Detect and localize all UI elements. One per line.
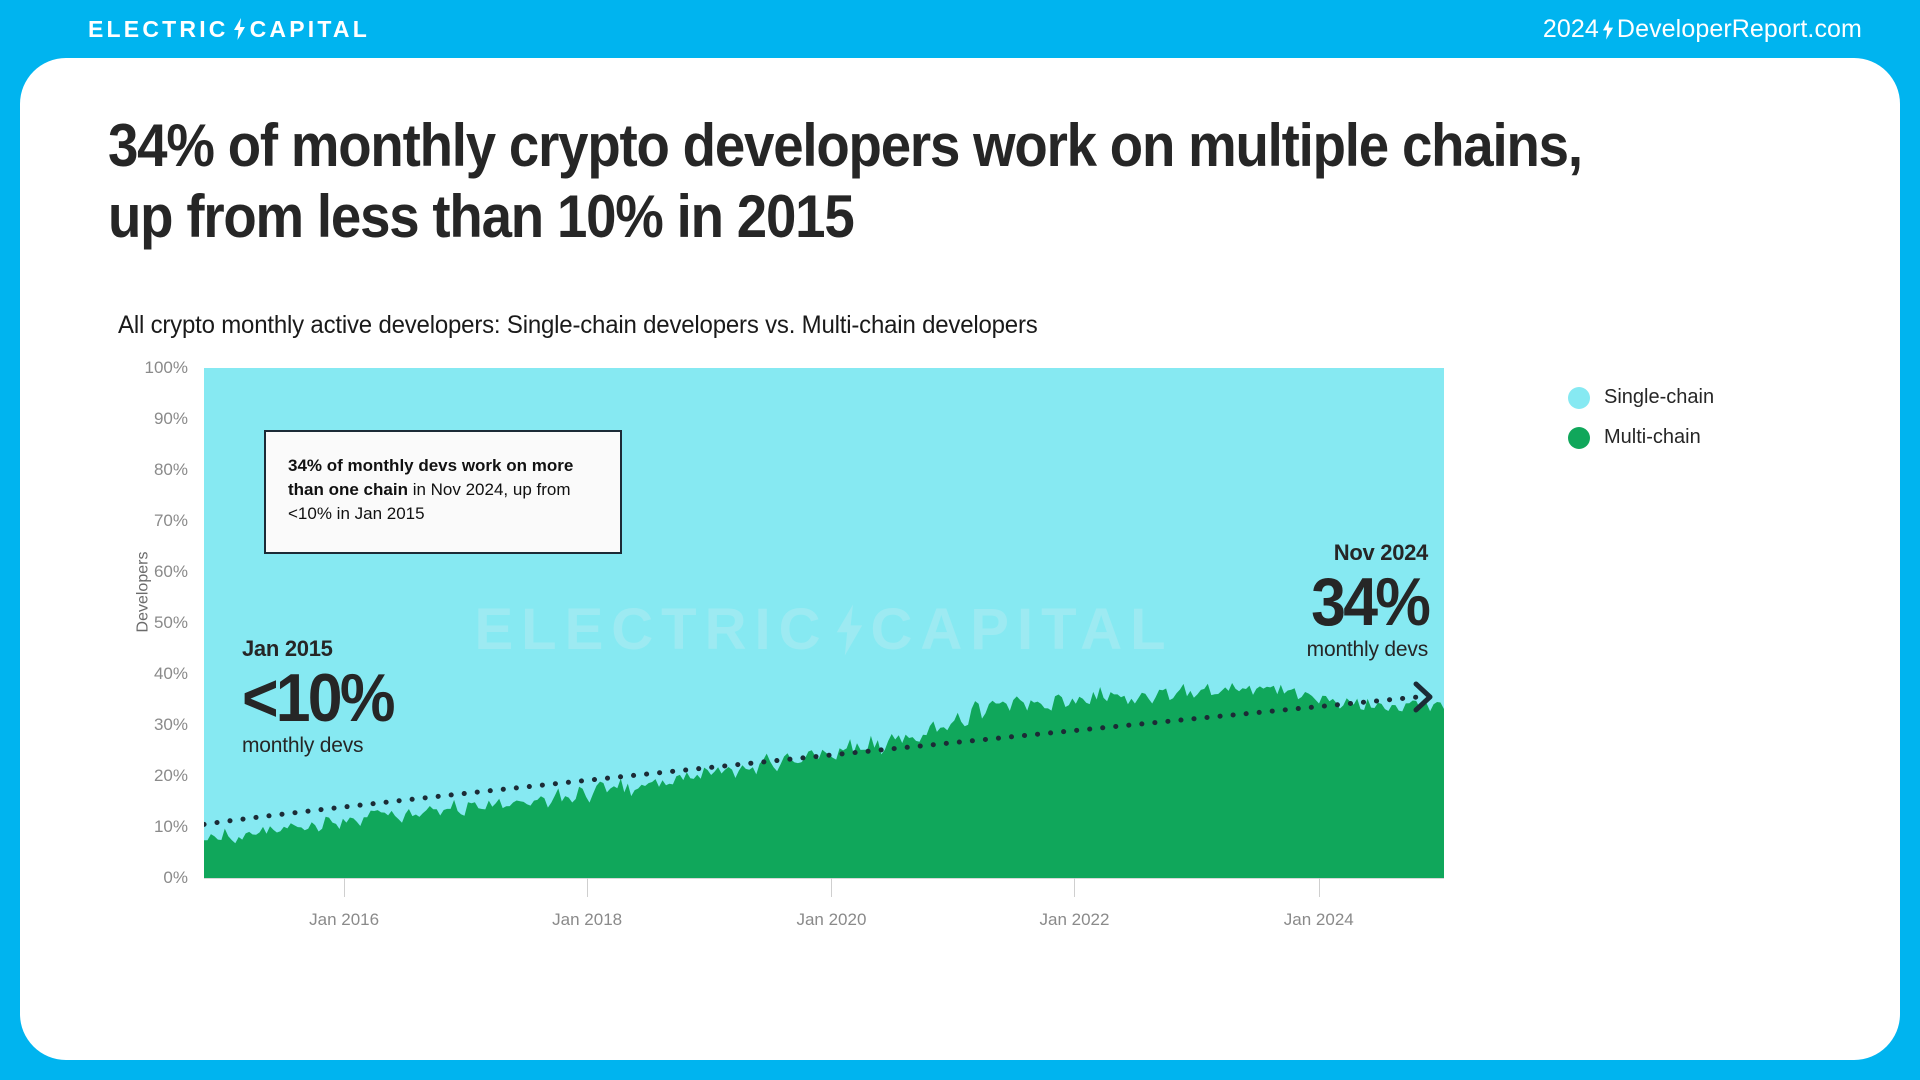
y-axis-tick-label: 40%	[154, 664, 188, 684]
watermark-text-first: ELECTRIC	[474, 596, 828, 663]
x-axis-tick-label: Jan 2024	[1284, 910, 1354, 930]
annotation-start-value: <10%	[242, 662, 393, 734]
y-axis-tick-label: 90%	[154, 409, 188, 429]
lightning-bolt-icon	[1602, 19, 1614, 40]
stacked-area-plot: ELECTRIC CAPITAL 34% of monthly devs wor…	[204, 368, 1444, 878]
legend-item-label: Single-chain	[1604, 386, 1714, 409]
annotation-end: Nov 2024 34% monthly devs	[1301, 540, 1428, 662]
annotation-end-period: Nov 2024	[1301, 540, 1428, 566]
x-axis-tick-label: Jan 2018	[552, 910, 622, 930]
top-bar: ELECTRIC CAPITAL 2024 DeveloperReport.co…	[0, 0, 1920, 58]
x-axis-tick-label: Jan 2020	[796, 910, 866, 930]
developer-report-link[interactable]: 2024 DeveloperReport.com	[1543, 15, 1862, 44]
legend-item-label: Multi-chain	[1604, 426, 1701, 449]
y-axis-tick-label: 100%	[145, 358, 188, 378]
x-axis-tick-mark	[587, 878, 588, 897]
legend-color-swatch	[1568, 427, 1590, 449]
page-subtitle: All crypto monthly active developers: Si…	[118, 311, 1038, 340]
annotation-end-value: 34%	[1311, 566, 1428, 638]
y-axis-tick-label: 30%	[154, 715, 188, 735]
lightning-bolt-icon	[834, 604, 864, 656]
electric-capital-logo: ELECTRIC CAPITAL	[88, 16, 370, 43]
report-year: 2024	[1543, 15, 1599, 44]
x-axis-tick-label: Jan 2016	[309, 910, 379, 930]
annotation-start: Jan 2015 <10% monthly devs	[242, 636, 406, 758]
content-card: 34% of monthly crypto developers work on…	[20, 58, 1900, 1060]
watermark-logo: ELECTRIC CAPITAL	[474, 596, 1173, 663]
y-axis-tick-label: 70%	[154, 511, 188, 531]
x-axis-tick-mark	[1074, 878, 1075, 897]
annotation-start-period: Jan 2015	[242, 636, 406, 662]
lightning-bolt-icon	[233, 18, 246, 40]
legend-color-swatch	[1568, 387, 1590, 409]
y-axis-tick-label: 60%	[154, 562, 188, 582]
callout-box: 34% of monthly devs work on more than on…	[264, 430, 622, 554]
annotation-start-caption: monthly devs	[242, 734, 406, 758]
page-title: 34% of monthly crypto developers work on…	[108, 110, 1600, 252]
watermark-text-second: CAPITAL	[870, 596, 1173, 663]
x-axis-ticks: Jan 2016Jan 2018Jan 2020Jan 2022Jan 2024	[204, 878, 1444, 948]
y-axis-ticks: 0%10%20%30%40%50%60%70%80%90%100%	[126, 368, 198, 878]
x-axis-tick-mark	[831, 878, 832, 897]
logo-text-first: ELECTRIC	[88, 16, 229, 43]
legend-item[interactable]: Single-chain	[1568, 386, 1714, 409]
report-site: DeveloperReport.com	[1617, 15, 1862, 44]
y-axis-tick-label: 50%	[154, 613, 188, 633]
chart-container: Developers 0%10%20%30%40%50%60%70%80%90%…	[108, 368, 1828, 968]
x-axis-tick-mark	[344, 878, 345, 897]
x-axis-tick-label: Jan 2022	[1039, 910, 1109, 930]
y-axis-tick-label: 0%	[163, 868, 188, 888]
logo-text-second: CAPITAL	[250, 16, 370, 43]
chart-legend: Single-chainMulti-chain	[1568, 386, 1714, 466]
y-axis-tick-label: 10%	[154, 817, 188, 837]
y-axis-tick-label: 20%	[154, 766, 188, 786]
x-axis-tick-mark	[1319, 878, 1320, 897]
legend-item[interactable]: Multi-chain	[1568, 426, 1714, 449]
annotation-end-caption: monthly devs	[1301, 638, 1428, 662]
y-axis-tick-label: 80%	[154, 460, 188, 480]
